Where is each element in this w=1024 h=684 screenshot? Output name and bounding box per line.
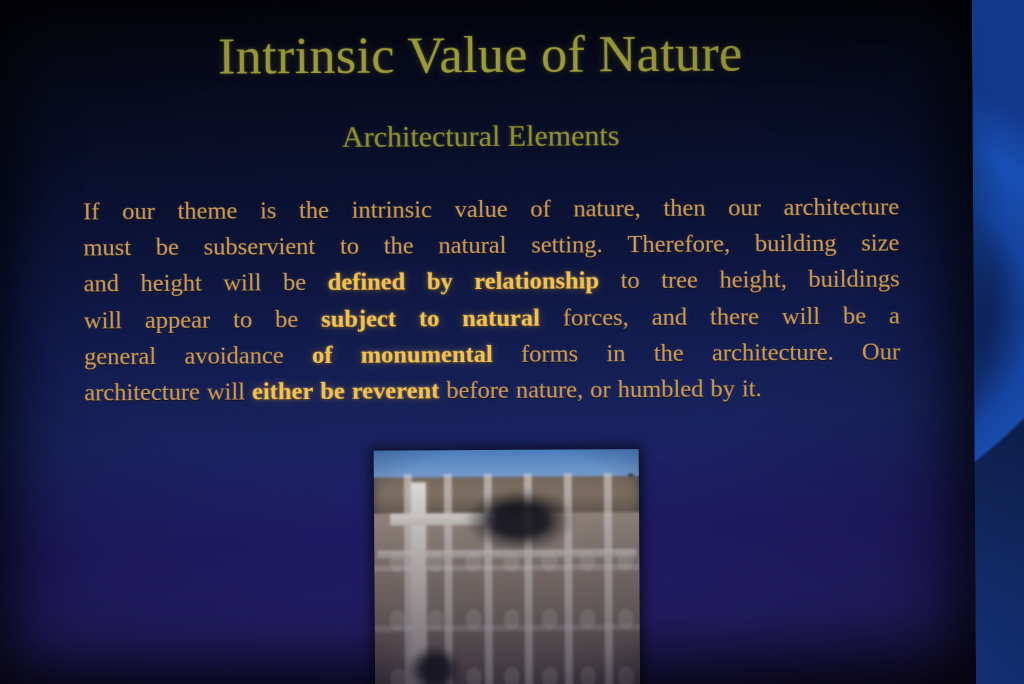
body-line: must be subservient to the natural setti… [83,226,899,267]
body-word: size [861,226,899,262]
word-space [414,228,439,264]
word-space [306,265,328,301]
body-line: architecture will either be reverent bef… [84,370,900,411]
word-space [578,336,606,372]
body-word: our [122,194,155,230]
body-word-emphasis: reverent [352,373,440,410]
body-word: appear [145,302,211,339]
body-word: of [530,192,551,228]
body-word-emphasis: monumental [361,337,493,374]
word-space [684,335,712,371]
body-word-emphasis: either [252,374,313,411]
body-word: architecture [783,189,899,226]
body-word-emphasis: defined [328,265,406,302]
word-space [396,301,419,337]
word-space [179,230,204,266]
word-space [432,192,455,228]
body-word-emphasis: to [419,301,440,337]
body-word: must [83,230,131,266]
slide-body-text: If our theme is the intrinsic value of n… [83,189,900,411]
body-word: be [283,265,306,301]
body-word: avoidance [184,338,284,375]
body-word: is [260,193,277,229]
word-space [629,300,652,336]
body-word: value [454,192,507,229]
body-word-emphasis: natural [462,300,540,337]
word-space [493,337,521,373]
slide-subtitle: Architectural Elements [0,117,973,156]
word-space [252,302,275,338]
body-word: the [299,193,329,229]
word-space [298,302,321,338]
word-space [599,264,621,300]
body-word: and [652,299,688,335]
word-space [122,303,145,339]
word-space [329,193,352,229]
body-word: it. [742,371,762,407]
word-space [332,338,360,374]
word-space [453,264,475,300]
slide-title: Intrinsic Value of Nature [0,25,972,87]
word-space [687,299,710,335]
word-space [508,192,531,228]
word-space [603,227,628,263]
body-word-emphasis: relationship [474,264,599,301]
word-space [131,230,156,266]
body-word: will [84,303,122,339]
body-word: general [84,339,156,376]
word-space [834,334,862,370]
body-line: If our theme is the intrinsic value of n… [83,189,899,230]
word-space [155,194,178,230]
word-space [439,301,462,337]
photo-softness [374,449,640,684]
body-word: nature, [516,372,584,409]
word-space [641,191,664,227]
architectural-ruin-photo [374,449,640,684]
body-word: architecture [84,375,200,412]
word-space [759,299,782,335]
body-word-emphasis: by [427,265,453,301]
body-word-emphasis: be [320,374,345,410]
slide-content: Intrinsic Value of Nature Architectural … [0,0,976,684]
word-space [836,226,861,262]
word-space [359,229,384,265]
body-word: to [340,229,359,265]
body-word: building [755,226,837,263]
body-word: forms [521,336,578,373]
word-space [730,227,755,263]
body-word: natural [438,228,506,265]
body-word: the [384,229,414,265]
body-word: by [710,371,735,407]
body-word: height [140,266,201,303]
body-word: intrinsic [352,192,433,229]
word-space [705,190,728,226]
body-word: theme [177,193,237,230]
body-word: the [654,336,684,372]
word-space [625,336,653,372]
body-word: be [843,298,866,334]
body-word: our [728,190,761,226]
word-space [261,266,283,302]
body-word: then [663,191,705,227]
word-space [506,228,531,264]
body-word: Our [862,334,900,370]
body-word: setting. [531,227,603,264]
body-word: be [275,302,298,338]
projected-slide-photo: Intrinsic Value of Nature Architectural … [0,0,1024,684]
body-word: before [446,373,509,410]
word-space [405,265,427,301]
body-line: and height will be defined by relationsh… [84,262,900,303]
word-space [787,262,809,298]
word-space [237,193,260,229]
word-space [202,266,224,302]
presentation-slide: Intrinsic Value of Nature Architectural … [0,0,976,684]
word-space [99,194,122,230]
word-space [210,302,233,338]
body-word: or [590,372,611,408]
body-word: humbled [618,372,704,409]
word-space [866,298,889,334]
word-space [156,339,184,375]
body-word: If [83,194,100,230]
word-space [551,191,574,227]
body-line: will appear to be subject to natural for… [84,298,900,339]
body-word: Therefore, [627,227,730,264]
body-word: nature, [573,191,641,228]
word-space [820,298,843,334]
body-word: in [606,336,625,372]
body-word: subservient [204,229,316,266]
body-word: to [233,302,252,338]
body-word: to [621,263,640,299]
body-word: will [223,266,261,302]
word-space [119,266,141,302]
word-space [640,263,662,299]
body-word: be [156,230,179,266]
body-word: will [782,299,820,335]
word-space [761,190,784,226]
body-word: there [710,299,759,336]
word-space [284,338,312,374]
body-word: will [207,374,245,410]
word-space [540,300,563,336]
body-word: buildings [808,262,899,299]
body-word-emphasis: of [312,338,333,374]
body-word-emphasis: subject [321,301,396,338]
word-space [698,263,720,299]
word-space [276,193,299,229]
body-word: tree [661,263,698,299]
body-word: forces, [563,300,629,337]
body-word: and [84,267,120,303]
body-word: architecture. [712,335,834,372]
body-line: general avoidance of monumental forms in… [84,334,900,375]
word-space [315,229,340,265]
body-word: a [889,298,900,334]
body-word: height, [719,263,787,300]
